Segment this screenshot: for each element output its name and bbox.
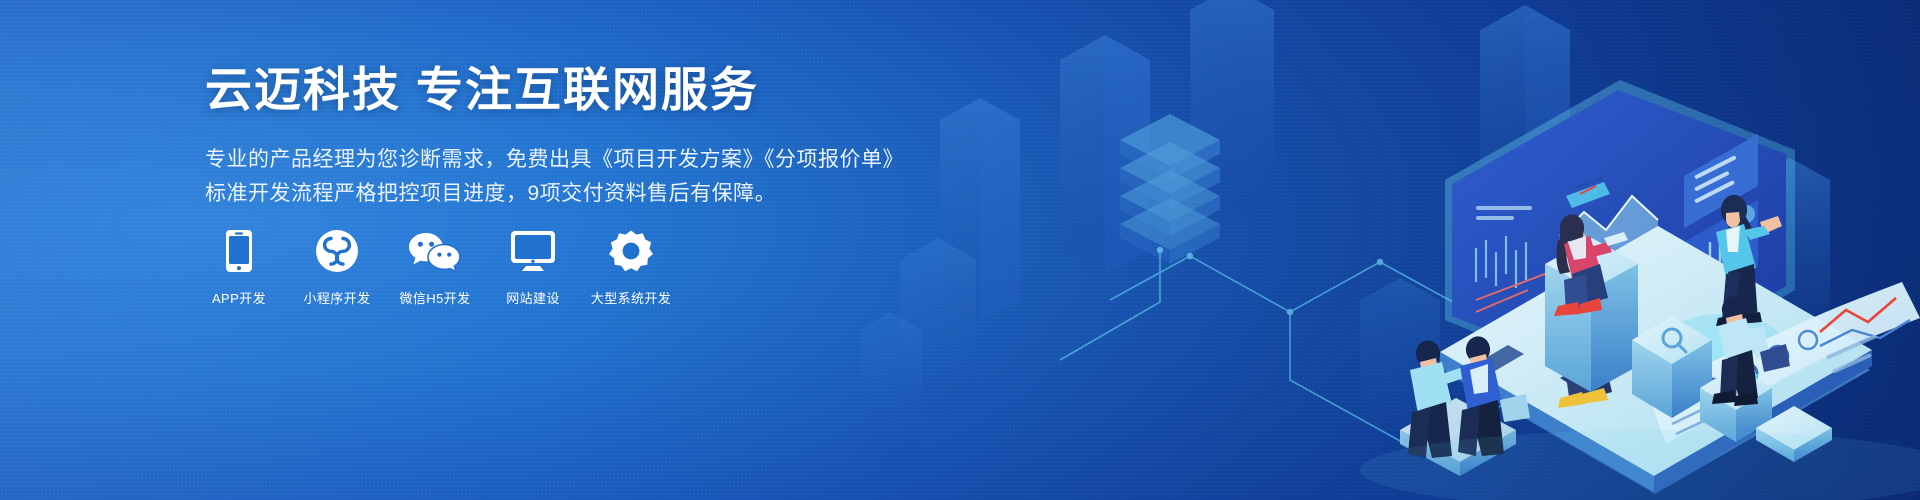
service-label: 小程序开发 [303,288,370,307]
service-item-app[interactable]: APP开发 [203,228,275,307]
service-item-large-system[interactable]: 大型系统开发 [595,228,667,307]
banner-subtitle-line-2: 标准开发流程严格把控项目进度，9项交付资料售后有保障。 [205,177,905,211]
service-label: APP开发 [212,288,266,307]
data-tower [1120,114,1220,264]
banner-subtitle-line-1: 专业的产品经理为您诊断需求，免费出具《项目开发方案》《分项报价单》 [205,143,905,177]
isometric-tech-illustration [860,0,1920,500]
mobile-phone-icon [225,228,253,274]
hero-banner: 云迈科技 专注互联网服务 专业的产品经理为您诊断需求，免费出具《项目开发方案》《… [0,0,1920,500]
service-label: 微信H5开发 [399,288,470,307]
service-item-website[interactable]: 网站建设 [497,228,569,307]
service-label: 网站建设 [506,288,560,307]
service-item-mini-program[interactable]: 小程序开发 [301,228,373,307]
banner-copy: 云迈科技 专注互联网服务 专业的产品经理为您诊断需求，免费出具《项目开发方案》《… [205,62,905,211]
page-title: 云迈科技 专注互联网服务 [205,62,905,117]
monitor-icon [510,228,556,274]
gear-icon [609,228,653,274]
wechat-icon [408,228,462,274]
service-label: 大型系统开发 [591,288,671,307]
mini-program-icon [315,228,359,274]
service-list: APP开发 小程序开发 [203,228,667,307]
service-item-wechat-h5[interactable]: 微信H5开发 [399,228,471,307]
